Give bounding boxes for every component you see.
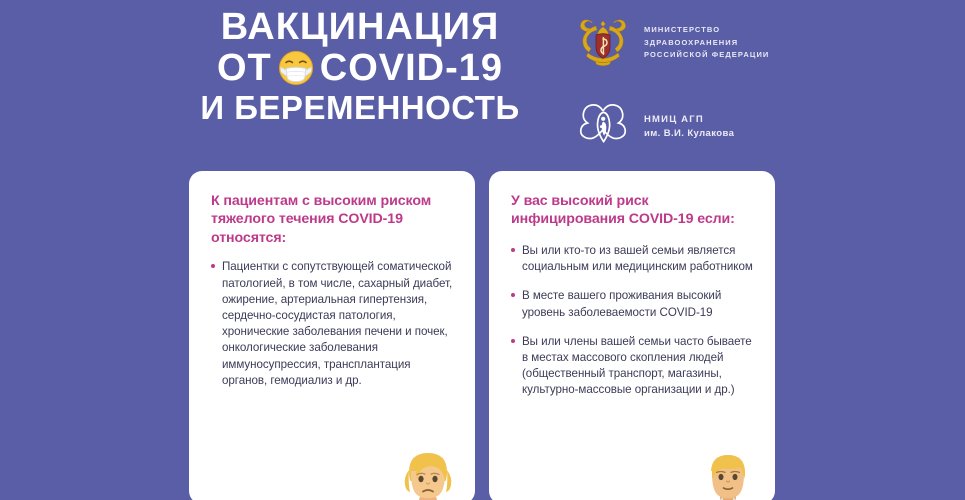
russian-double-headed-eagle-icon: [572, 12, 634, 74]
card-high-infection-risk: У вас высокий риск инфицирования COVID-1…: [489, 171, 775, 500]
poster-title: ВАКЦИНАЦИЯ ОТ COVID-: [160, 8, 560, 124]
ministry-label-line-3: РОССИЙСКОЙ ФЕДЕРАЦИИ: [644, 49, 769, 62]
title-line-1: ВАКЦИНАЦИЯ: [160, 8, 560, 47]
nmic-agp-butterfly-icon: [572, 96, 634, 158]
list-item: Вы или члены вашей семьи часто бываете в…: [511, 334, 755, 399]
nmic-label-line-1: НМИЦ АГП: [644, 113, 734, 127]
list-item: Вы или кто-то из вашей семьи является со…: [511, 243, 755, 275]
nmic-label-line-2: им. В.И. Кулакова: [644, 127, 734, 141]
man-health-worker-icon: [699, 446, 757, 500]
nmic-logo-label: НМИЦ АГП им. В.И. Кулакова: [644, 113, 734, 142]
bullet-text: Вы или члены вашей семьи часто бываете в…: [522, 335, 752, 397]
ministry-logo-label: МИНИСТЕРСТВО ЗДРАВООХРАНЕНИЯ РОССИЙСКОЙ …: [644, 24, 769, 63]
card-high-severe-risk: К пациентам с высоким риском тяжелого те…: [189, 171, 475, 500]
ministry-logo-row: МИНИСТЕРСТВО ЗДРАВООХРАНЕНИЯ РОССИЙСКОЙ …: [572, 12, 872, 74]
nmic-logo-row: НМИЦ АГП им. В.И. Кулакова: [572, 96, 872, 158]
poster-header: ВАКЦИНАЦИЯ ОТ COVID-: [0, 0, 965, 160]
card-bullet-list: Пациентки с сопутствующей соматической п…: [211, 259, 455, 389]
bullet-dot-icon: [511, 293, 515, 297]
bullet-dot-icon: [511, 248, 515, 252]
poster-root: ВАКЦИНАЦИЯ ОТ COVID-: [0, 0, 965, 500]
title-line-2-after: COVID-19: [320, 49, 503, 88]
bullet-text: В месте вашего проживания высокий уровен…: [522, 289, 721, 318]
ministry-label-line-1: МИНИСТЕРСТВО: [644, 24, 769, 37]
bullet-dot-icon: [211, 264, 215, 268]
title-line-3: И БЕРЕМЕННОСТЬ: [160, 91, 560, 125]
card-bullet-list: Вы или кто-то из вашей семьи является со…: [511, 243, 755, 399]
logo-group: МИНИСТЕРСТВО ЗДРАВООХРАНЕНИЯ РОССИЙСКОЙ …: [572, 12, 872, 158]
ministry-label-line-2: ЗДРАВООХРАНЕНИЯ: [644, 37, 769, 50]
list-item: Пациентки с сопутствующей соматической п…: [211, 259, 455, 389]
face-with-medical-mask-icon: [278, 50, 314, 86]
title-line-2-before: ОТ: [217, 49, 272, 88]
cards-area: К пациентам с высоким риском тяжелого те…: [0, 171, 965, 500]
list-item: В месте вашего проживания высокий уровен…: [511, 288, 755, 320]
bullet-text: Пациентки с сопутствующей соматической п…: [222, 260, 452, 387]
card-heading: У вас высокий риск инфицирования COVID-1…: [511, 192, 755, 229]
bullet-dot-icon: [511, 339, 515, 343]
bullet-text: Вы или кто-то из вашей семьи является со…: [522, 244, 753, 273]
card-heading: К пациентам с высоким риском тяжелого те…: [211, 192, 455, 247]
woman-frowning-icon: [399, 446, 457, 500]
title-line-2: ОТ COVID-19: [160, 49, 560, 88]
